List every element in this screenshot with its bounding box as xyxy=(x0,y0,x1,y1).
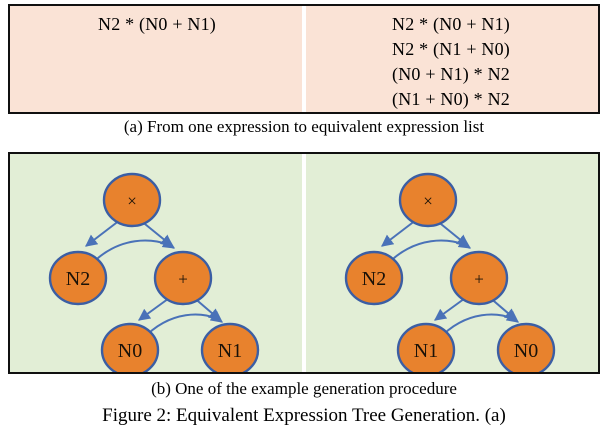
equivalent-expression-1: N2 * (N0 + N1) xyxy=(392,12,510,37)
tree-generation-panel: × N2 + N0 N1 xyxy=(8,152,600,374)
node-root-label: × xyxy=(127,192,137,211)
node-left-child-label: N2 xyxy=(362,268,386,290)
node-leaf-right-label: N0 xyxy=(514,340,538,362)
node-right-child: + xyxy=(155,252,211,304)
node-leaf-left: N0 xyxy=(102,324,158,372)
left-expression-tree: × N2 + N0 N1 xyxy=(8,154,304,372)
node-leaf-left-label: N1 xyxy=(414,340,438,362)
node-root: × xyxy=(400,174,456,226)
equivalent-expression-4: (N1 + N0) * N2 xyxy=(392,87,510,112)
node-right-child: + xyxy=(451,252,507,304)
panel-b-caption: (b) One of the example generation proced… xyxy=(0,379,608,399)
right-expression-tree: × N2 + N1 N0 xyxy=(304,154,600,372)
node-leaf-right-label: N1 xyxy=(218,340,242,362)
node-leaf-right: N0 xyxy=(498,324,554,372)
expression-list-panel: N2 * (N0 + N1) N2 * (N0 + N1) N2 * (N1 +… xyxy=(8,4,600,114)
node-root-label: × xyxy=(423,192,433,211)
equivalent-expression-2: N2 * (N1 + N0) xyxy=(392,37,510,62)
edge-root-to-n2 xyxy=(382,220,416,246)
equivalent-expression-3: (N0 + N1) * N2 xyxy=(392,62,510,87)
edge-root-to-n2 xyxy=(86,220,120,246)
node-left-child-label: N2 xyxy=(66,268,90,290)
node-leaf-left: N1 xyxy=(398,324,454,372)
node-left-child: N2 xyxy=(346,252,402,304)
panel-a-caption: (a) From one expression to equivalent ex… xyxy=(0,117,608,137)
node-right-child-label: + xyxy=(474,270,484,289)
figure-container: N2 * (N0 + N1) N2 * (N0 + N1) N2 * (N1 +… xyxy=(0,0,608,430)
source-expression: N2 * (N0 + N1) xyxy=(98,12,216,37)
figure-caption: Figure 2: Equivalent Expression Tree Gen… xyxy=(0,405,608,427)
panel-b-divider xyxy=(302,154,306,372)
node-left-child: N2 xyxy=(50,252,106,304)
node-right-child-label: + xyxy=(178,270,188,289)
node-root: × xyxy=(104,174,160,226)
source-expression-column: N2 * (N0 + N1) xyxy=(10,6,304,112)
equivalent-expression-column: N2 * (N0 + N1) N2 * (N1 + N0) (N0 + N1) … xyxy=(304,6,598,112)
node-leaf-right: N1 xyxy=(202,324,258,372)
node-leaf-left-label: N0 xyxy=(118,340,142,362)
